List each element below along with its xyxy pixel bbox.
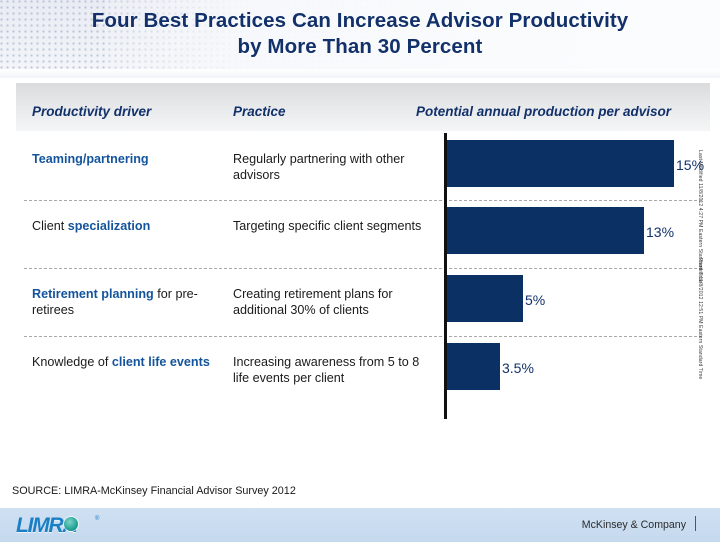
driver-text-highlight: client life events	[112, 355, 210, 369]
driver-text-highlight: specialization	[68, 219, 151, 233]
bar-value-label-3: 3.5%	[502, 361, 534, 375]
table-header-row: Productivity driver Practice Potential a…	[16, 83, 710, 131]
content-panel: Productivity driver Practice Potential a…	[16, 83, 710, 468]
bar-retirement-planning	[447, 275, 523, 322]
cell-practice: Creating retirement plans for additional…	[233, 286, 423, 318]
cell-productivity-driver: Retirement planning for pre-retirees	[32, 286, 217, 318]
globe-icon	[64, 517, 78, 531]
cell-practice: Increasing awareness from 5 to 8 life ev…	[233, 354, 423, 386]
limra-logo: LIMRA ®	[16, 514, 102, 536]
bar-chart: 15% 13% 5% 3.5%	[428, 131, 710, 431]
driver-text-plain-pre: Client	[32, 219, 68, 233]
page-title-line-2: by More Than 30 Percent	[0, 34, 720, 60]
cell-practice: Regularly partnering with other advisors	[233, 151, 423, 183]
title-band: Four Best Practices Can Increase Advisor…	[0, 0, 720, 78]
bar-client-life-events	[447, 343, 500, 390]
bar-value-label-2: 5%	[525, 293, 545, 307]
mckinsey-rule	[695, 516, 696, 531]
driver-text-highlight: Teaming/partnering	[32, 152, 149, 166]
printed-text: Printed 11/8/2012 12:51 PM Eastern Stand…	[697, 258, 703, 379]
mckinsey-label: McKinsey & Company	[582, 519, 686, 531]
cell-productivity-driver: Client specialization	[32, 218, 217, 234]
page-title: Four Best Practices Can Increase Advisor…	[0, 8, 720, 60]
footer-bar: LIMRA ® McKinsey & Company	[0, 506, 720, 542]
cell-productivity-driver: Knowledge of client life events	[32, 354, 217, 370]
bar-value-label-1: 13%	[646, 225, 674, 239]
cell-practice: Targeting specific client segments	[233, 218, 423, 234]
column-header-potential-production: Potential annual production per advisor	[416, 104, 671, 119]
driver-text-highlight: Retirement planning	[32, 287, 154, 301]
registered-trademark-icon: ®	[95, 516, 99, 522]
bar-teaming-partnering	[447, 140, 674, 187]
bar-client-specialization	[447, 207, 644, 254]
column-header-productivity-driver: Productivity driver	[32, 104, 151, 119]
column-header-practice: Practice	[233, 104, 286, 119]
last-modified-stamp: Last Modified 11/8/2012 4:27 PM Eastern …	[697, 150, 703, 420]
cell-productivity-driver: Teaming/partnering	[32, 151, 217, 167]
driver-text-plain-pre: Knowledge of	[32, 355, 112, 369]
source-note: SOURCE: LIMRA-McKinsey Financial Advisor…	[12, 485, 296, 497]
page-title-line-1: Four Best Practices Can Increase Advisor…	[0, 8, 720, 34]
